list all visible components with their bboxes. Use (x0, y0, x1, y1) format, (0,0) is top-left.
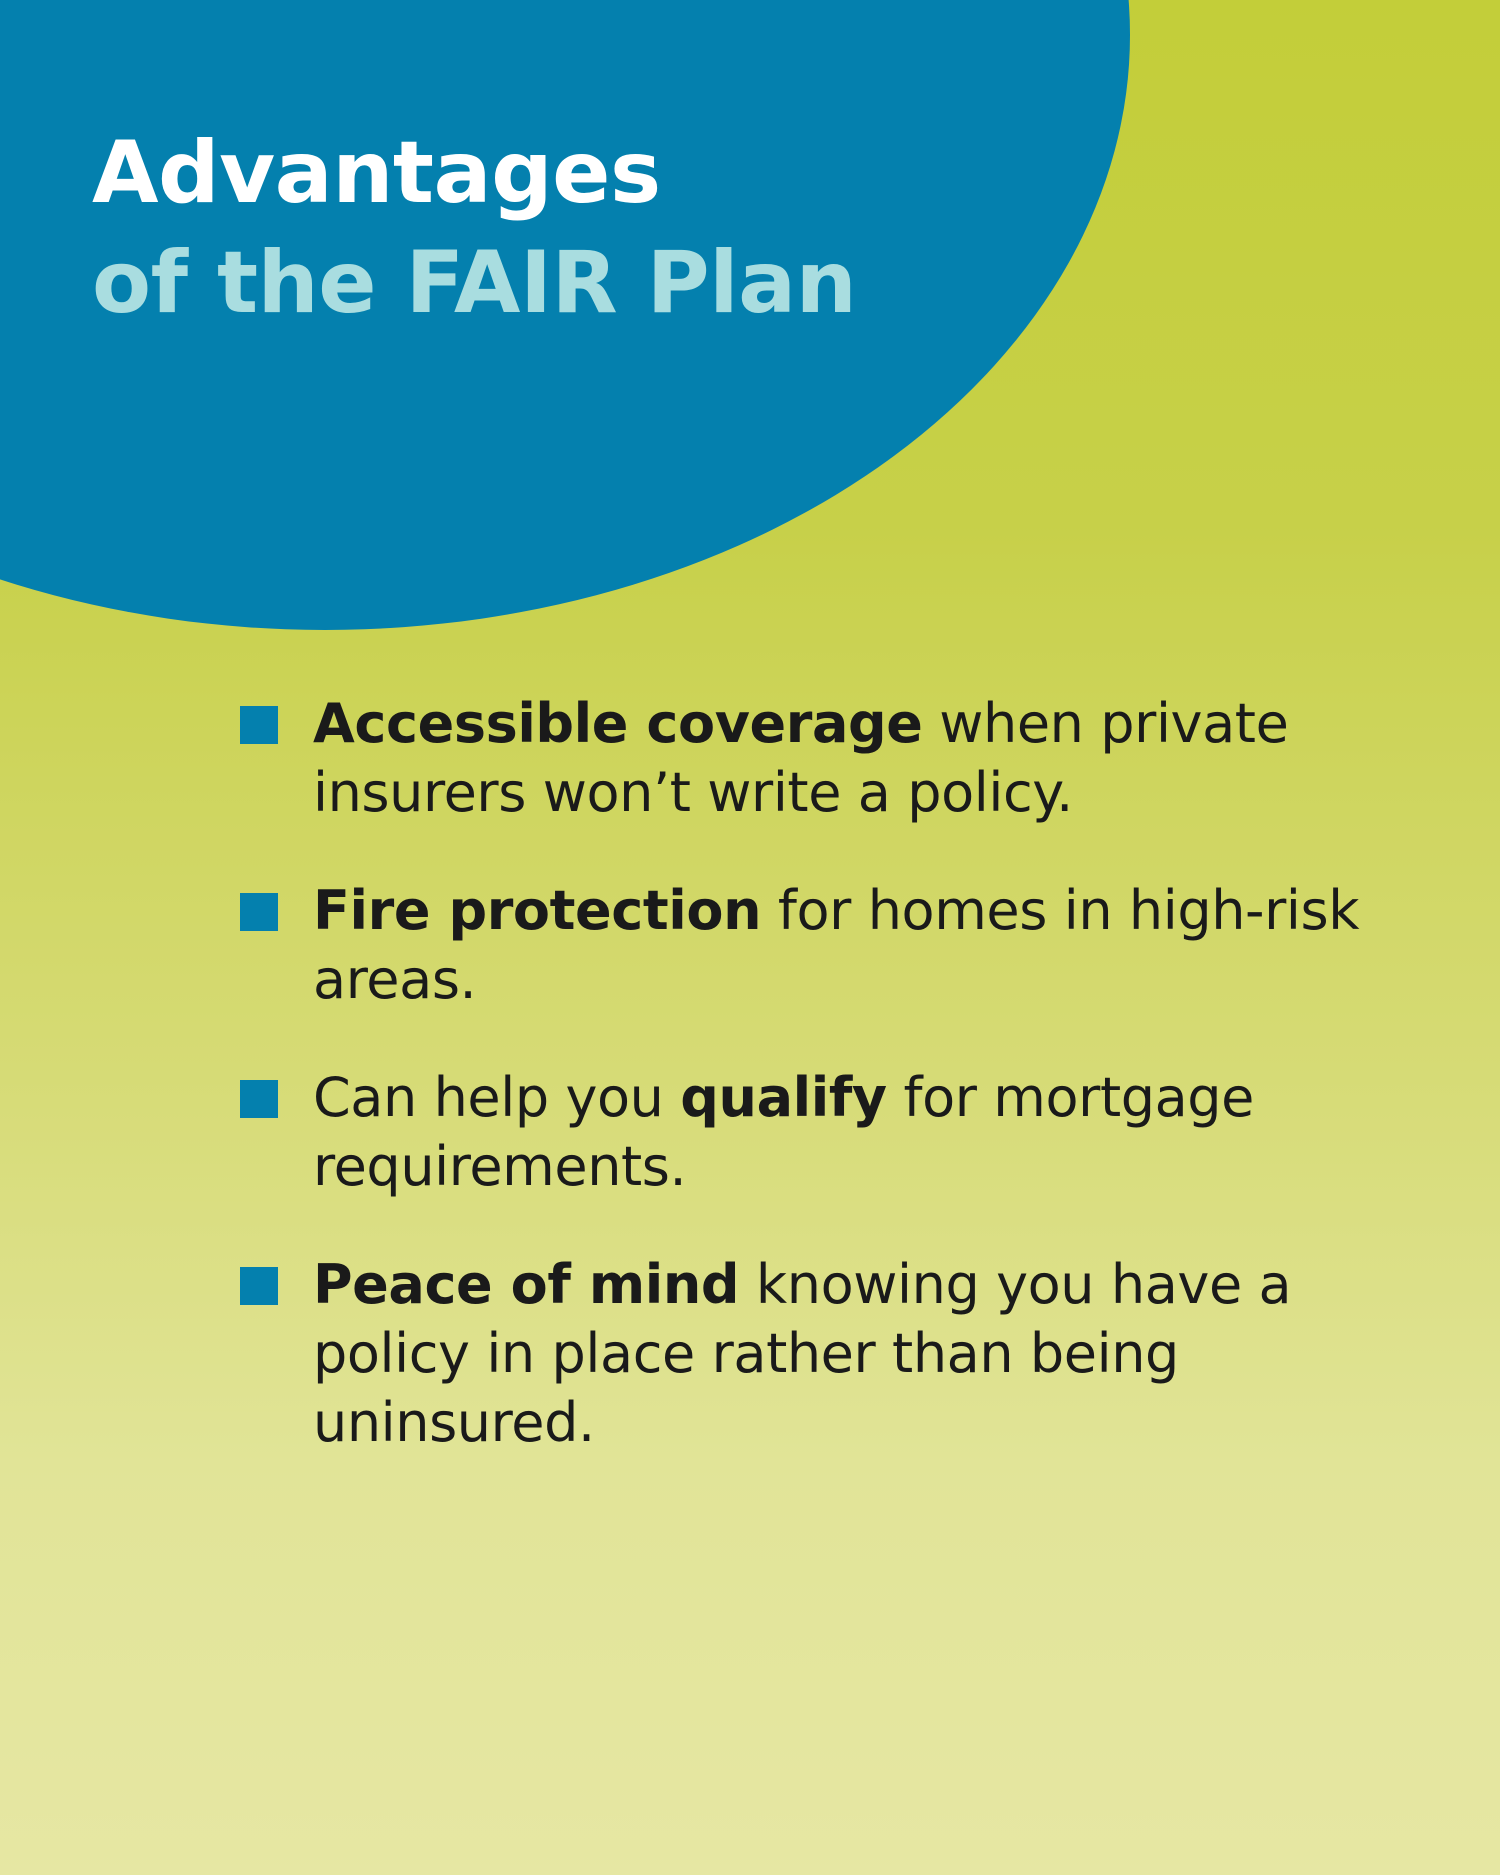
list-item: Peace of mind knowing you have a policy … (240, 1251, 1370, 1457)
list-item-text: Peace of mind knowing you have a policy … (313, 1251, 1370, 1457)
list-item: Fire protection for homes in high-risk a… (240, 877, 1370, 1014)
square-bullet-icon (240, 1267, 278, 1305)
list-item: Accessible coverage when private insurer… (240, 690, 1370, 827)
list-item: Can help you qualify for mortgage requir… (240, 1064, 1370, 1201)
square-bullet-icon (240, 706, 278, 744)
list-item-text: Fire protection for homes in high-risk a… (313, 877, 1370, 1014)
list-item-text: Can help you qualify for mortgage requir… (313, 1064, 1370, 1201)
square-bullet-icon (240, 1080, 278, 1118)
list-item-text: Accessible coverage when private insurer… (313, 690, 1370, 827)
square-bullet-icon (240, 893, 278, 931)
title-line-primary: Advantages (92, 118, 1142, 228)
list-item-emphasis: Fire protection (313, 879, 761, 942)
advantages-list: Accessible coverage when private insurer… (240, 690, 1370, 1457)
list-item-emphasis: Accessible coverage (313, 692, 923, 755)
list-item-emphasis: Peace of mind (313, 1253, 739, 1316)
list-item-emphasis: qualify (680, 1066, 886, 1129)
list-item-lead: Can help you (313, 1066, 680, 1129)
poster-canvas: Advantages of the FAIR Plan Accessible c… (0, 0, 1500, 1875)
page-title: Advantages of the FAIR Plan (92, 118, 1142, 338)
title-line-secondary: of the FAIR Plan (92, 228, 1142, 338)
